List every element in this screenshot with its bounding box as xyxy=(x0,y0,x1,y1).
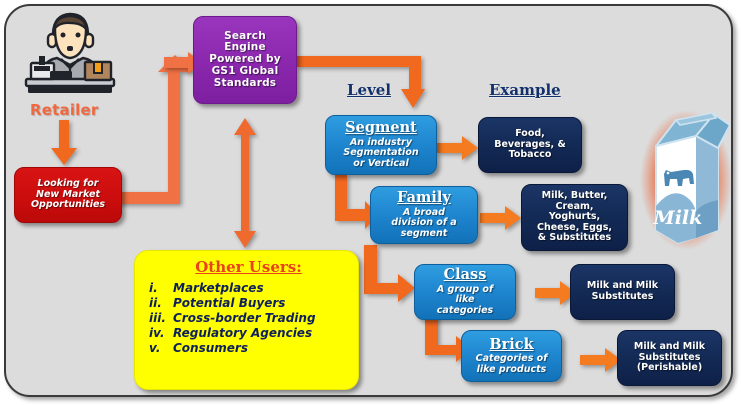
retailer-icon xyxy=(17,8,123,106)
level-desc-line: categories xyxy=(437,306,493,317)
milk-carton-label: Milk xyxy=(653,207,703,229)
example-line: & Substitutes xyxy=(538,233,611,244)
level-node-brick[interactable]: Brick Categories of like products xyxy=(461,330,562,382)
level-title-class: Class xyxy=(444,267,487,283)
other-users-list: i.Marketplaces ii.Potential Buyers iii.C… xyxy=(149,281,316,357)
level-desc-line: segment xyxy=(401,229,448,240)
arrow-brick-to-example xyxy=(580,348,622,372)
example-node-segment[interactable]: Food, Beverages, & Tobacco xyxy=(478,117,582,173)
level-node-segment[interactable]: Segment An industry Segmentation or Vert… xyxy=(325,115,437,175)
arrow-family-to-class xyxy=(364,245,416,303)
level-desc-line: like products xyxy=(477,365,547,376)
example-node-family[interactable]: Milk, Butter, Cream, Yoghurts, Cheese, E… xyxy=(521,184,628,251)
list-label: Consumers xyxy=(173,342,248,355)
example-line: (Perishable) xyxy=(637,363,702,374)
list-label: Regulatory Agencies xyxy=(173,327,312,340)
example-column-header: Example xyxy=(489,81,561,99)
arrow-family-to-example xyxy=(480,206,522,230)
list-label: Potential Buyers xyxy=(173,297,285,310)
list-label: Cross-border Trading xyxy=(173,312,316,325)
example-line: Substitutes xyxy=(592,292,654,303)
arrow-need-to-search-engine xyxy=(113,52,201,204)
other-users-node[interactable]: Other Users: i.Marketplaces ii.Potential… xyxy=(134,250,359,390)
level-node-family[interactable]: Family A broad division of a segment xyxy=(370,186,478,244)
level-title-brick: Brick xyxy=(489,337,533,353)
level-desc-line: or Vertical xyxy=(353,159,408,170)
level-column-header: Level xyxy=(347,81,391,99)
list-item: iv.Regulatory Agencies xyxy=(149,327,316,340)
list-numeral: iv. xyxy=(149,327,173,340)
level-node-class[interactable]: Class A group of like categories xyxy=(414,264,516,320)
list-numeral: i. xyxy=(149,282,173,295)
list-numeral: ii. xyxy=(149,297,173,310)
example-node-brick[interactable]: Milk and Milk Substitutes (Perishable) xyxy=(617,330,722,386)
arrow-search-engine-other-users xyxy=(233,118,257,248)
search-engine-line-4: GS1 Global xyxy=(212,66,279,78)
milk-carton-icon: Milk xyxy=(638,108,734,253)
diagram-canvas: Retailer xyxy=(0,0,741,405)
arrow-segment-to-example xyxy=(437,136,479,160)
need-line-3: Opportunities xyxy=(31,200,105,211)
need-node[interactable]: Looking for New Market Opportunities xyxy=(14,167,122,223)
list-item: ii.Potential Buyers xyxy=(149,297,316,310)
level-title-segment: Segment xyxy=(345,120,417,136)
list-item: iii.Cross-border Trading xyxy=(149,312,316,325)
example-line: Milk, Butter, xyxy=(542,191,608,202)
retailer-label: Retailer xyxy=(30,101,98,119)
list-item: v.Consumers xyxy=(149,342,316,355)
list-label: Marketplaces xyxy=(173,282,264,295)
list-numeral: iii. xyxy=(149,312,173,325)
search-engine-line-5: Standards xyxy=(214,78,277,90)
example-node-class[interactable]: Milk and Milk Substitutes xyxy=(570,264,675,320)
list-numeral: v. xyxy=(149,342,173,355)
list-item: i.Marketplaces xyxy=(149,282,316,295)
search-engine-node[interactable]: Search Engine Powered by GS1 Global Stan… xyxy=(193,16,297,104)
other-users-title: Other Users: xyxy=(149,259,348,276)
arrow-retailer-to-need xyxy=(50,120,78,166)
level-title-family: Family xyxy=(397,190,451,206)
example-line: Tobacco xyxy=(509,150,552,161)
